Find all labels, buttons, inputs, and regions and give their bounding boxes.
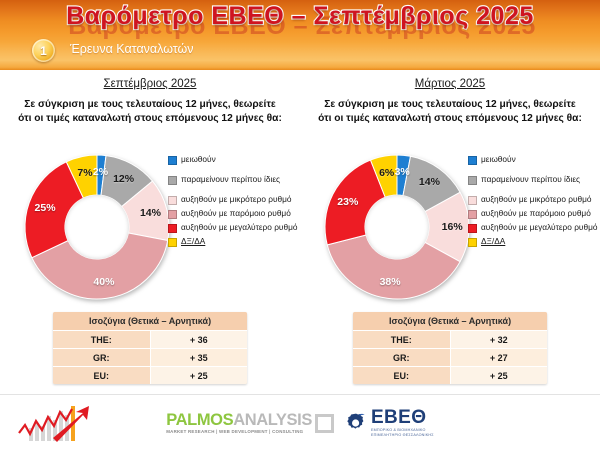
panel-date-label: Σεπτέμβριος 2025 (0, 78, 300, 90)
legend-item: μειωθούν (168, 154, 298, 165)
legend-swatch-blue-icon (168, 156, 177, 165)
legend-label: ΔΞ/ΔΑ (481, 236, 505, 246)
donut-slice-label: 38% (380, 276, 401, 288)
legend-item: αυξηθούν με μεγαλύτερο ρυθμό (468, 222, 598, 233)
row-key: EU: (353, 367, 450, 385)
balance-table-september: Ισοζύγια (Θετικά – Αρνητικά) THE: + 36 G… (53, 312, 247, 384)
legend-label: παραμείνουν περίπου ίδιες (481, 174, 580, 184)
legend-swatch-yellow-icon (468, 238, 477, 247)
donut-slice-label: 2% (93, 166, 108, 178)
legend-swatch-lightpink-icon (468, 196, 477, 205)
table-header: Ισοζύγια (Θετικά – Αρνητικά) (353, 312, 547, 331)
table-row: THE: + 32 (353, 331, 547, 349)
legend-item: αυξηθούν με παρόμοιο ρυθμό (468, 208, 598, 219)
legend-swatch-blue-icon (468, 156, 477, 165)
legend-swatch-lightpink-icon (168, 196, 177, 205)
donut-chart-september: 2%12%14%40%25%7% (22, 152, 172, 302)
palmos-wordmark: PALMOSANALYSIS MARKET RESEARCH | WEB DEV… (166, 412, 312, 434)
table-row: GR: + 35 (53, 349, 247, 367)
chart-area-march: 3%14%16%38%23%6% μειωθούν παραμείνουν πε… (300, 150, 600, 310)
legend-swatch-red-icon (168, 224, 177, 233)
row-value: + 32 (450, 331, 547, 349)
legend-label: αυξηθούν με παρόμοιο ρυθμό (181, 208, 291, 218)
panel-september: Σεπτέμβριος 2025 Σε σύγκριση με τους τελ… (0, 70, 300, 395)
legend-item: ΔΞ/ΔΑ (468, 236, 598, 247)
ebeth-wordmark: EBEΘ ΕΜΠΟΡΙΚΟ & ΒΙΟΜΗΧΑΝΙΚΟ ΕΠΙΜΕΛΗΤΗΡΙΟ… (371, 408, 434, 437)
legend-label: μειωθούν (181, 154, 216, 164)
row-value: + 25 (150, 367, 247, 385)
legend-item: μειωθούν (468, 154, 598, 165)
donut-slice-label: 14% (140, 207, 161, 219)
legend-swatch-yellow-icon (168, 238, 177, 247)
row-key: EU: (53, 367, 150, 385)
balance-table-march: Ισοζύγια (Θετικά – Αρνητικά) THE: + 32 G… (353, 312, 547, 384)
donut-slice-label: 7% (77, 167, 92, 179)
chart-area-september: 2%12%14%40%25%7% μειωθούν παραμείνουν πε… (0, 150, 300, 310)
legend-item: παραμείνουν περίπου ίδιες (468, 174, 598, 185)
palmos-square-icon (315, 414, 334, 433)
panel-question: Σε σύγκριση με τους τελευταίους 12 μήνες… (318, 98, 582, 125)
donut-slice-label: 16% (442, 221, 463, 233)
donut-slice-label: 6% (379, 167, 394, 179)
row-key: THE: (353, 331, 450, 349)
row-value: + 35 (150, 349, 247, 367)
panel-date-label: Μάρτιος 2025 (300, 78, 600, 90)
legend-swatch-pink-icon (168, 210, 177, 219)
legend-label: παραμείνουν περίπου ίδιες (181, 174, 280, 184)
panel-march: Μάρτιος 2025 Σε σύγκριση με τους τελευτα… (300, 70, 600, 395)
row-key: GR: (53, 349, 150, 367)
legend-item: αυξηθούν με μεγαλύτερο ρυθμό (168, 222, 298, 233)
legend-item: ΔΞ/ΔΑ (168, 236, 298, 247)
donut-slice-label: 3% (395, 166, 410, 178)
legend-label: αυξηθούν με μικρότερο ρυθμό (181, 194, 292, 204)
legend-swatch-pink-icon (468, 210, 477, 219)
donut-slice-label: 25% (35, 202, 56, 214)
table-row: GR: + 27 (353, 349, 547, 367)
donut-center-hole (365, 195, 429, 259)
section-number-badge: 1 (32, 39, 55, 62)
footer-logos: PALMOSANALYSIS MARKET RESEARCH | WEB DEV… (0, 403, 600, 443)
page-title: Βαρόμετρο ΕΒΕΘ – Σεπτέμβριος 2025 (0, 2, 600, 31)
donut-slice-label: 12% (113, 173, 134, 185)
palmos-name-primary: PALMOS (166, 411, 233, 429)
palmos-tagline: MARKET RESEARCH | WEB DEVELOPMENT | CONS… (166, 430, 312, 434)
legend-swatch-gray-icon (168, 176, 177, 185)
palmos-name-secondary: ANALYSIS (233, 411, 312, 429)
row-value: + 25 (450, 367, 547, 385)
table-row: EU: + 25 (53, 367, 247, 385)
ebeth-logo: EBEΘ ΕΜΠΟΡΙΚΟ & ΒΙΟΜΗΧΑΝΙΚΟ ΕΠΙΜΕΛΗΤΗΡΙΟ… (344, 408, 434, 437)
section-subtitle: Έρευνα Καταναλωτών (70, 42, 194, 56)
table-header: Ισοζύγια (Θετικά – Αρνητικά) (53, 312, 247, 331)
palmos-analysis-logo: PALMOSANALYSIS MARKET RESEARCH | WEB DEV… (166, 412, 334, 434)
row-key: THE: (53, 331, 150, 349)
slide-footer: PALMOSANALYSIS MARKET RESEARCH | WEB DEV… (0, 394, 600, 450)
panel-question: Σε σύγκριση με τους τελευταίους 12 μήνες… (18, 98, 282, 125)
row-key: GR: (353, 349, 450, 367)
ebeth-subtitle-1: ΕΜΠΟΡΙΚΟ & ΒΙΟΜΗΧΑΝΙΚΟ (371, 429, 434, 433)
row-value: + 27 (450, 349, 547, 367)
row-value: + 36 (150, 331, 247, 349)
slide-header: Βαρόμετρο ΕΒΕΘ – Σεπτέμβριος 2025 Βαρόμε… (0, 0, 600, 70)
legend-item: αυξηθούν με παρόμοιο ρυθμό (168, 208, 298, 219)
donut-chart-march: 3%14%16%38%23%6% (322, 152, 472, 302)
legend-swatch-red-icon (468, 224, 477, 233)
legend-label: αυξηθούν με παρόμοιο ρυθμό (481, 208, 591, 218)
table-row: EU: + 25 (353, 367, 547, 385)
ebeth-name: EBEΘ (371, 408, 434, 427)
donut-slice-label: 40% (93, 276, 114, 288)
slide-root: Βαρόμετρο ΕΒΕΘ – Σεπτέμβριος 2025 Βαρόμε… (0, 0, 600, 450)
legend-march: μειωθούν παραμείνουν περίπου ίδιες αυξηθ… (468, 154, 598, 250)
legend-label: αυξηθούν με μεγαλύτερο ρυθμό (181, 222, 297, 232)
ebeth-subtitle-2: ΕΠΙΜΕΛΗΤΗΡΙΟ ΘΕΣΣΑΛΟΝΙΚΗΣ (371, 434, 434, 438)
legend-september: μειωθούν παραμείνουν περίπου ίδιες αυξηθ… (168, 154, 298, 250)
donut-slice-label: 14% (419, 176, 440, 188)
legend-item: αυξηθούν με μικρότερο ρυθμό (168, 194, 298, 205)
legend-label: μειωθούν (481, 154, 516, 164)
table-row: THE: + 36 (53, 331, 247, 349)
gear-icon (344, 411, 368, 435)
legend-swatch-gray-icon (468, 176, 477, 185)
donut-center-hole (65, 195, 129, 259)
legend-label: αυξηθούν με μεγαλύτερο ρυθμό (481, 222, 597, 232)
legend-label: αυξηθούν με μικρότερο ρυθμό (481, 194, 592, 204)
donut-slice-label: 23% (337, 196, 358, 208)
legend-item: παραμείνουν περίπου ίδιες (168, 174, 298, 185)
legend-item: αυξηθούν με μικρότερο ρυθμό (468, 194, 598, 205)
legend-label: ΔΞ/ΔΑ (181, 236, 205, 246)
palmos-name: PALMOSANALYSIS (166, 412, 312, 429)
